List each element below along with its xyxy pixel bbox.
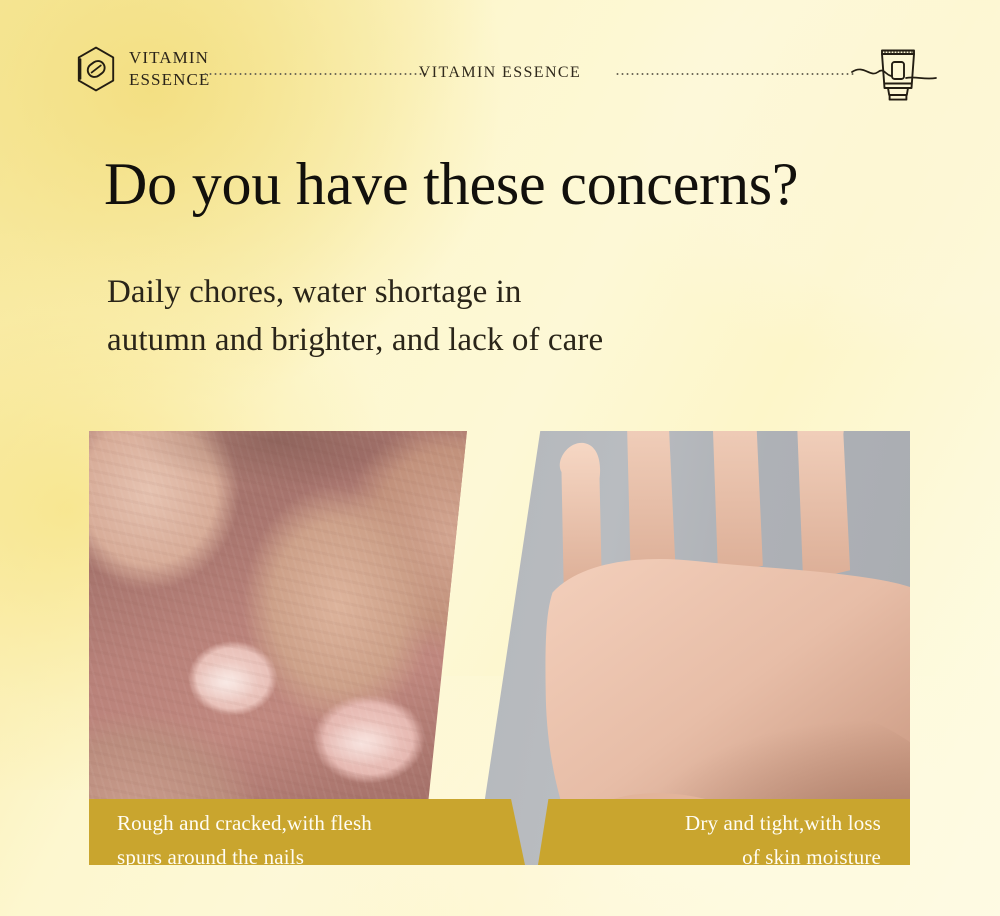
poster-canvas: Vitamin Essence Vitamin Essence [0, 0, 1000, 916]
caption-bar-left: Rough and cracked,with flesh spurs aroun… [89, 799, 525, 865]
caption-left-line-1: Rough and cracked,with flesh [117, 806, 525, 840]
caption-bar-right: Dry and tight,with loss of skin moisture [538, 799, 910, 865]
caption-right-line-1: Dry and tight,with loss [538, 806, 881, 840]
photo-group [0, 0, 1000, 916]
